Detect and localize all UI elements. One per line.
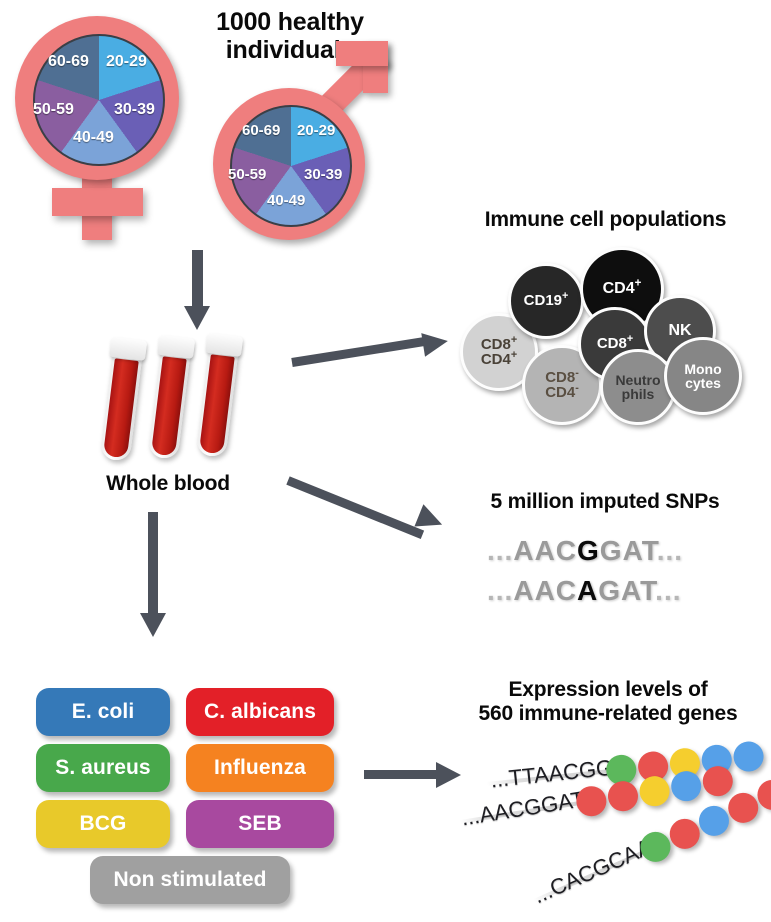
- female-pie-label-6069: 60-69: [48, 53, 89, 71]
- immune-cell-cluster: CD8+ CD4+ CD19+ CD4+ CD8- CD4- CD8+ NK N…: [460, 245, 760, 420]
- cd4pos-label: CD4+: [603, 281, 642, 297]
- arrow-cohort-to-blood: [180, 250, 220, 330]
- snp-sequence-row-1: ...AACGGAT...: [487, 535, 683, 567]
- nk-label: NK: [668, 323, 691, 339]
- female-pie-label-3039: 30-39: [114, 101, 155, 119]
- dna-bead: [701, 764, 735, 798]
- snp-sequence-row-2: ...AACAGAT...: [487, 575, 682, 607]
- male-pie-label-4049: 40-49: [267, 192, 305, 209]
- snp2-right: GAT: [598, 575, 655, 606]
- snp2-left: AAC: [513, 575, 577, 606]
- stimulus-bcg[interactable]: BCG: [36, 800, 170, 848]
- male-symbol-arrow-barb-h: [336, 41, 388, 66]
- stimulus-influenza[interactable]: Influenza: [186, 744, 334, 792]
- snp2-variant: A: [577, 575, 598, 606]
- male-pie-label-6069: 60-69: [242, 122, 280, 139]
- snp1-suffix: ...: [657, 535, 683, 566]
- snp-title: 5 million imputed SNPs: [450, 490, 760, 514]
- stimulus-s-aureus[interactable]: S. aureus: [36, 744, 170, 792]
- male-pie-label-2029: 20-29: [297, 122, 335, 139]
- male-gender-symbol: 20-29 30-39 40-49 50-59 60-69: [205, 38, 420, 253]
- stimulus-seb[interactable]: SEB: [186, 800, 334, 848]
- cd19pos-label: CD19+: [524, 293, 569, 308]
- dna-strand-3-sequence: ...CACGCAA: [529, 834, 656, 909]
- cd8neg-cd4neg-line2: CD4-: [545, 384, 579, 401]
- female-pie-label-2029: 20-29: [106, 53, 147, 71]
- immune-populations-title: Immune cell populations: [448, 208, 763, 232]
- expression-title: Expression levels of 560 immune-related …: [448, 678, 768, 725]
- neutrophils-line2: phils: [622, 386, 655, 402]
- female-symbol-crossbar: [52, 188, 143, 216]
- stimulus-non-stimulated[interactable]: Non stimulated: [90, 856, 290, 904]
- stimulus-e-coli[interactable]: E. coli: [36, 688, 170, 736]
- dna-bead: [606, 779, 640, 813]
- immune-cell-cd19pos: CD19+: [508, 263, 584, 339]
- snp1-variant: G: [577, 535, 600, 566]
- immune-cell-monocytes: Mono cytes: [664, 337, 742, 415]
- expression-title-line1: Expression levels of: [448, 678, 768, 702]
- blood-tubes-icon: [108, 335, 288, 470]
- dna-bead: [637, 774, 671, 808]
- cd8pos-cd4pos-line2: CD4+: [481, 351, 517, 368]
- snp1-left: AAC: [513, 535, 577, 566]
- arrow-blood-to-stimuli: [135, 512, 175, 642]
- snp2-prefix: ...: [487, 575, 513, 606]
- cohort-title-line1: 1000 healthy: [175, 8, 405, 36]
- monocytes-line2: cytes: [685, 375, 721, 391]
- arrow-blood-to-snp: [288, 466, 458, 546]
- snp1-prefix: ...: [487, 535, 513, 566]
- male-pie-label-3039: 30-39: [304, 166, 342, 183]
- snp1-right: GAT: [600, 535, 657, 566]
- snp2-suffix: ...: [655, 575, 681, 606]
- whole-blood-label: Whole blood: [78, 472, 258, 496]
- dna-bead: [669, 769, 703, 803]
- arrow-blood-to-immune: [292, 330, 457, 380]
- female-gender-symbol: 20-29 30-39 40-49 50-59 60-69: [8, 12, 208, 242]
- female-pie-label-5059: 50-59: [33, 101, 74, 119]
- male-pie-label-5059: 50-59: [228, 166, 266, 183]
- stimulus-c-albicans[interactable]: C. albicans: [186, 688, 334, 736]
- arrow-stimuli-to-expression: [364, 757, 474, 797]
- female-pie-label-4049: 40-49: [73, 129, 114, 147]
- expression-title-line2: 560 immune-related genes: [448, 702, 768, 726]
